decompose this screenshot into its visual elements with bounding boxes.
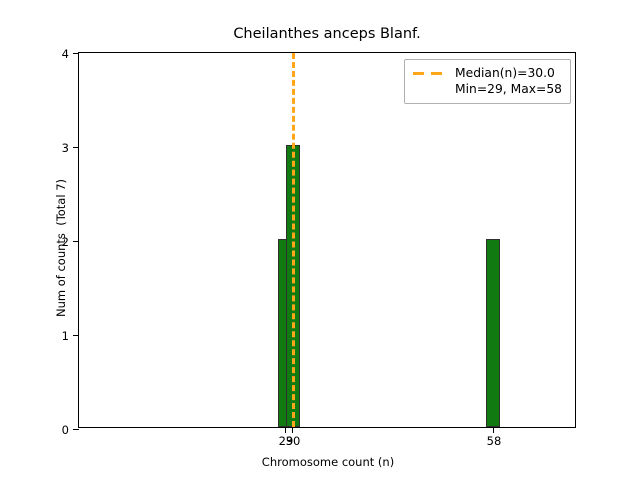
x-axis-label: Chromosome count (n): [79, 455, 577, 469]
y-tick-1: 1: [73, 335, 79, 336]
y-tick-2: 2: [73, 241, 79, 242]
x-tick-label-30: 30: [253, 434, 333, 448]
x-tick-58: 58: [493, 427, 494, 433]
y-tick-0: 0: [73, 429, 79, 430]
plot-area: Num of counts (Total 7) 0 1 2 3 4 29 30: [78, 52, 576, 428]
y-tick-3: 3: [73, 147, 79, 148]
y-tick-label-3: 3: [62, 140, 69, 156]
median-line-swatch-icon: [413, 65, 447, 81]
page-title: Cheilanthes anceps Blanf.: [78, 26, 576, 42]
y-tick-label-0: 0: [62, 422, 69, 438]
legend-entry-minmax: Min=29, Max=58: [455, 81, 562, 97]
x-tick-label-58: 58: [454, 434, 534, 448]
median-line: [292, 53, 295, 427]
bar-58: [486, 239, 500, 427]
legend-entry-median: Median(n)=30.0: [455, 65, 562, 81]
legend-text: Median(n)=30.0 Min=29, Max=58: [455, 65, 562, 97]
y-tick-4: 4: [73, 53, 79, 54]
y-tick-label-1: 1: [62, 328, 69, 344]
y-tick-label-4: 4: [62, 46, 69, 62]
x-tick-29: 29: [285, 427, 286, 433]
chart-figure: Cheilanthes anceps Blanf. Num of counts …: [0, 0, 640, 480]
x-tick-30: 30: [292, 427, 293, 433]
y-tick-label-2: 2: [62, 234, 69, 250]
legend: Median(n)=30.0 Min=29, Max=58: [404, 59, 571, 104]
